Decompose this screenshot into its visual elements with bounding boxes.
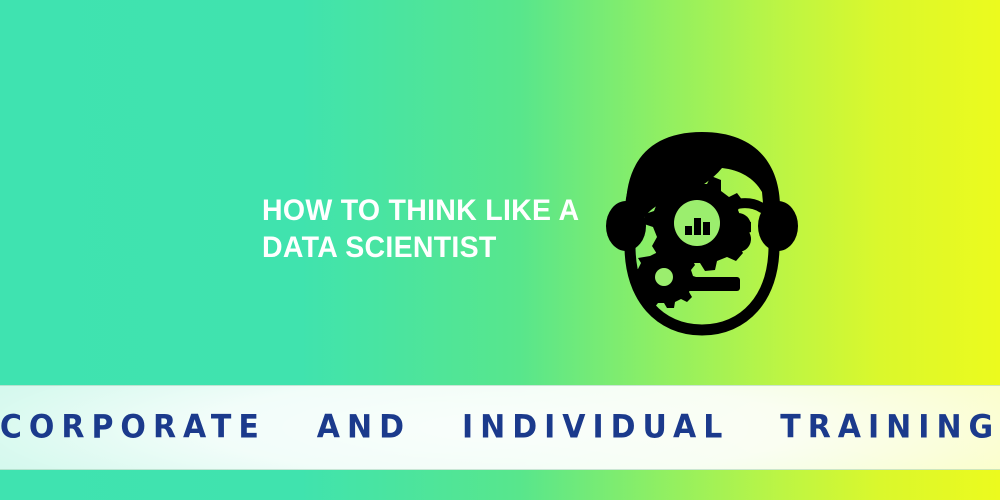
- headline-block: HOW TO THINK LIKE A DATA SCIENTIST: [262, 192, 602, 266]
- strip-word-3: INDIVIDUAL: [462, 409, 729, 446]
- data-scientist-face-illustration: [604, 122, 800, 338]
- strip-word-1: CORPORATE: [0, 409, 266, 446]
- bottom-strip: CORPORATE AND INDIVIDUAL TRAINING: [0, 385, 1000, 470]
- strip-word-4: TRAINING: [780, 409, 1000, 446]
- promo-banner: HOW TO THINK LIKE A DATA SCIENTIST: [0, 0, 1000, 500]
- strip-text: CORPORATE AND INDIVIDUAL TRAINING: [0, 409, 1000, 446]
- strip-word-2: AND: [317, 409, 411, 446]
- headline-line-1: HOW TO THINK LIKE A: [262, 192, 585, 229]
- headline-line-2: DATA SCIENTIST: [262, 229, 585, 266]
